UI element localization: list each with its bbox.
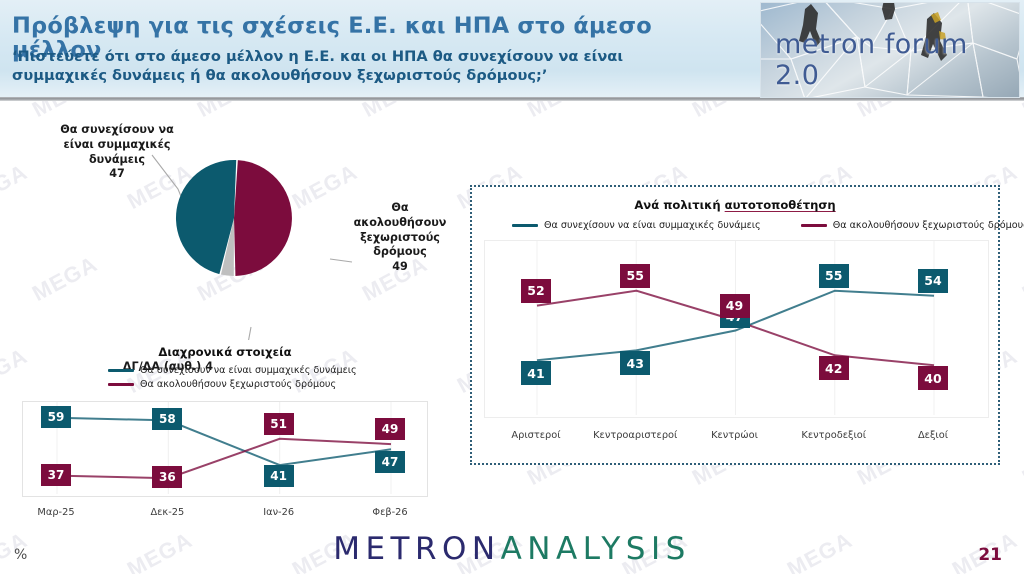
category-label: Μαρ-25 [0, 507, 116, 518]
brand-metron: METRON [333, 531, 500, 567]
legend-item-allied-2[interactable]: Θα συνεχίσουν να είναι συμμαχικές δυνάμε… [512, 220, 761, 231]
legend-label-separate: Θα ακολουθήσουν ξεχωριστούς δρόμους [140, 379, 336, 390]
political-plot-area [484, 240, 989, 418]
legend-swatch-separate [108, 383, 134, 386]
data-label: 49 [375, 418, 405, 440]
metron-forum-logo: metron forum 2.0 [760, 2, 1020, 98]
pie-slices [176, 160, 292, 276]
brand-analysis: ANALYSIS [501, 531, 691, 567]
pie-callout-allied-value: 47 [42, 167, 192, 182]
legend-swatch-separate-2 [801, 224, 827, 227]
data-label: 41 [264, 465, 294, 487]
series-line-1 [57, 439, 391, 478]
legend-label-separate-2: Θα ακολουθήσουν ξεχωριστούς δρόμους [833, 220, 1024, 231]
pie-slice-1[interactable] [234, 160, 292, 276]
data-label: 47 [375, 451, 405, 473]
category-label: Δεκ-25 [107, 507, 227, 518]
data-label: 54 [918, 269, 948, 293]
category-label: Ιαν-26 [219, 507, 339, 518]
pie-chart-block: Θα συνεχίσουν να είναι συμμαχικές δυνάμε… [0, 105, 450, 340]
pie-leader-right [330, 259, 352, 262]
data-label: 51 [264, 413, 294, 435]
data-label: 52 [521, 279, 551, 303]
political-placement-panel: Ανά πολιτική αυτοτοποθέτηση Θα συνεχίσου… [470, 185, 1000, 465]
pie-callout-separate: Θα ακολουθήσουν ξεχωριστούς δρόμους 49 [352, 201, 448, 275]
diachronic-chart-title: Διαχρονικά στοιχεία [0, 345, 450, 359]
legend-item-separate-2[interactable]: Θα ακολουθήσουν ξεχωριστούς δρόμους [801, 220, 1024, 231]
legend-item-separate[interactable]: Θα ακολουθήσουν ξεχωριστούς δρόμους [108, 379, 336, 390]
diachronic-plot-area [22, 401, 428, 497]
pie-callout-separate-value: 49 [352, 260, 448, 275]
logo-text: metron forum 2.0 [775, 29, 1015, 91]
pie-callout-allied: Θα συνεχίσουν να είναι συμμαχικές δυνάμε… [42, 123, 192, 182]
political-chart-title-underlined: αυτοτοποθέτηση [725, 198, 836, 212]
data-label: 43 [620, 351, 650, 375]
diachronic-legend: Θα συνεχίσουν να είναι συμμαχικές δυνάμε… [108, 365, 357, 390]
watermark-text: MEGA [1018, 435, 1024, 491]
legend-swatch-allied [108, 369, 134, 372]
page-number: 21 [978, 545, 1002, 565]
data-label: 55 [819, 264, 849, 288]
diachronic-lines [23, 402, 425, 494]
data-label: 40 [918, 366, 948, 390]
category-label: Δεξιοί [873, 430, 993, 441]
pie-callout-separate-line4: δρόμους [352, 245, 448, 260]
metron-analysis-logo: METRONANALYSIS [333, 531, 691, 567]
legend-swatch-allied-2 [512, 224, 538, 227]
pie-callout-separate-line3: ξεχωριστούς [352, 231, 448, 246]
data-label: 59 [41, 406, 71, 428]
data-label: 55 [620, 264, 650, 288]
data-label: 42 [819, 356, 849, 380]
data-label: 49 [720, 294, 750, 318]
data-label: 36 [152, 466, 182, 488]
pie-callout-allied-line3: δυνάμεις [42, 153, 192, 168]
category-label: Φεβ-26 [330, 507, 450, 518]
legend-item-allied[interactable]: Θα συνεχίσουν να είναι συμμαχικές δυνάμε… [108, 365, 357, 376]
legend-label-allied-2: Θα συνεχίσουν να είναι συμμαχικές δυνάμε… [544, 220, 761, 231]
percent-symbol: % [14, 547, 27, 563]
pie-callout-separate-line2: ακολουθήσουν [352, 216, 448, 231]
pie-callout-allied-line1: Θα συνεχίσουν να [42, 123, 192, 138]
legend-label-allied: Θα συνεχίσουν να είναι συμμαχικές δυνάμε… [140, 365, 357, 376]
data-label: 58 [152, 408, 182, 430]
political-chart-title-prefix: Ανά πολιτική [634, 198, 724, 212]
data-label: 37 [41, 464, 71, 486]
page-subtitle: ‘Πιστεύετε ότι στο άμεσο μέλλον η Ε.Ε. κ… [12, 47, 712, 86]
pie-callout-separate-line1: Θα [352, 201, 448, 216]
data-label: 41 [521, 361, 551, 385]
pie-leader-bottom [210, 327, 251, 340]
slide: MEGAMEGAMEGAMEGAMEGAMEGAMEGAMEGAMEGAMEGA… [0, 0, 1024, 574]
pie-callout-allied-line2: είναι συμμαχικές [42, 138, 192, 153]
political-legend: Θα συνεχίσουν να είναι συμμαχικές δυνάμε… [512, 220, 1024, 231]
diachronic-chart-block: Διαχρονικά στοιχεία Θα συνεχίσουν να είν… [0, 345, 450, 520]
slide-footer: % METRONANALYSIS 21 [0, 520, 1024, 574]
political-chart-title: Ανά πολιτική αυτοτοποθέτηση [472, 198, 998, 212]
watermark-text: MEGA [1018, 251, 1024, 307]
